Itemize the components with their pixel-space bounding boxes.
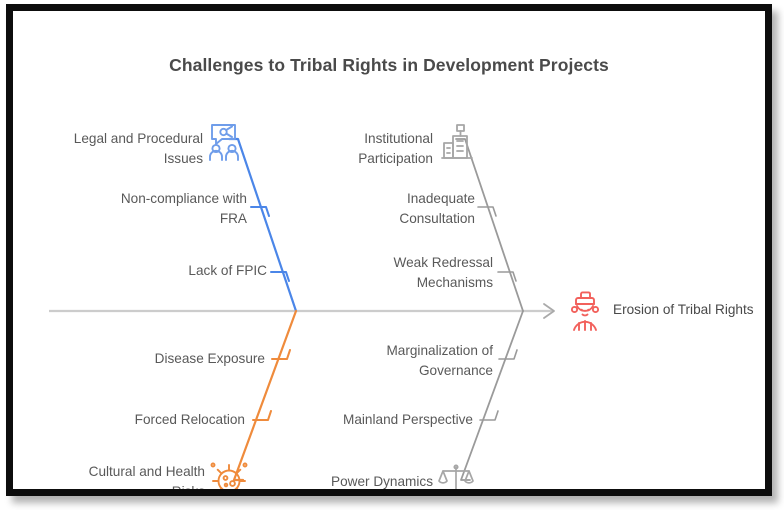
cause-label-marginalization: Marginalization of Governance — [323, 341, 493, 381]
institution-building-icon — [439, 121, 475, 168]
branch-line-power — [461, 311, 523, 480]
tribal-person-icon — [565, 289, 607, 339]
cause-label-inadequate-consultation: Inadequate Consultation — [301, 189, 475, 229]
diagram-canvas: Challenges to Tribal Rights in Developme… — [13, 11, 765, 489]
virus-icon — [209, 461, 249, 489]
cause-label-forced-relocation: Forced Relocation — [75, 410, 245, 430]
cause-label-weak-redressal: Weak Redressal Mechanisms — [319, 253, 493, 293]
diagram-frame: Challenges to Tribal Rights in Developme… — [6, 4, 772, 496]
branch-header-institutional: Institutional Participation — [263, 129, 433, 169]
people-presentation-icon — [205, 121, 245, 168]
effect-label: Erosion of Tribal Rights — [613, 302, 754, 317]
cause-label-mainland-perspective: Mainland Perspective — [303, 410, 473, 430]
branch-header-legal: Legal and Procedural Issues — [33, 129, 203, 169]
cause-label-non-compliance-fra: Non-compliance with FRA — [73, 189, 247, 229]
cause-label-disease-exposure: Disease Exposure — [95, 349, 265, 369]
scales-of-justice-icon — [437, 461, 475, 489]
cause-label-lack-of-fpic: Lack of FPIC — [93, 261, 267, 281]
branch-stub-institutional-1 — [478, 207, 496, 216]
branch-header-cultural: Cultural and Health Risks — [35, 462, 205, 489]
branch-line-cultural — [234, 311, 296, 480]
branch-stub-legal-1 — [251, 207, 269, 216]
branch-header-power: Power Dynamics — [263, 472, 433, 489]
